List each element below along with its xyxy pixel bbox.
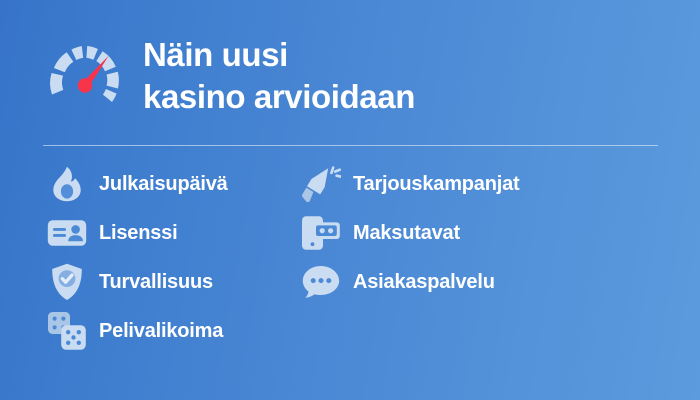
divider xyxy=(43,145,658,146)
criteria-column-left: Julkaisupäivä Lisenssi xyxy=(44,160,228,356)
list-item: Lisenssi xyxy=(44,209,228,257)
megaphone-icon xyxy=(298,162,344,206)
evaluation-criteria-banner: Näin uusi kasino arvioidaan Julkaisupäiv… xyxy=(0,0,700,400)
id-card-icon xyxy=(44,211,90,255)
dice-icon xyxy=(44,309,90,353)
gauge-needle xyxy=(78,56,109,93)
list-item: Tarjouskampanjat xyxy=(298,160,519,208)
gauge-segments xyxy=(50,46,119,102)
megaphone-sound-lines xyxy=(330,166,341,178)
list-item: Asiakaspalvelu xyxy=(298,258,519,306)
flame-icon xyxy=(44,162,90,206)
list-item-label: Maksutavat xyxy=(353,222,460,245)
list-item-label: Tarjouskampanjat xyxy=(353,173,519,196)
page-title: Näin uusi kasino arvioidaan xyxy=(143,34,415,117)
shield-check-icon xyxy=(44,260,90,304)
list-item: Pelivalikoima xyxy=(44,307,228,355)
chat-bubble-icon xyxy=(298,260,344,304)
list-item-label: Turvallisuus xyxy=(99,271,213,294)
list-item: Julkaisupäivä xyxy=(44,160,228,208)
list-item-label: Lisenssi xyxy=(99,222,177,245)
list-item: Maksutavat xyxy=(298,209,519,257)
dice-front xyxy=(61,325,86,350)
title-line-2: kasino arvioidaan xyxy=(143,76,415,118)
list-item-label: Pelivalikoima xyxy=(99,320,223,343)
speedometer-gauge-icon xyxy=(44,35,126,117)
criteria-column-right: Tarjouskampanjat Maksutavat xyxy=(298,160,519,307)
list-item: Turvallisuus xyxy=(44,258,228,306)
list-item-label: Asiakaspalvelu xyxy=(353,271,495,294)
title-line-1: Näin uusi xyxy=(143,34,415,76)
banner-header: Näin uusi kasino arvioidaan xyxy=(44,34,415,118)
list-item-label: Julkaisupäivä xyxy=(99,173,228,196)
mobile-payment-icon xyxy=(298,211,344,255)
